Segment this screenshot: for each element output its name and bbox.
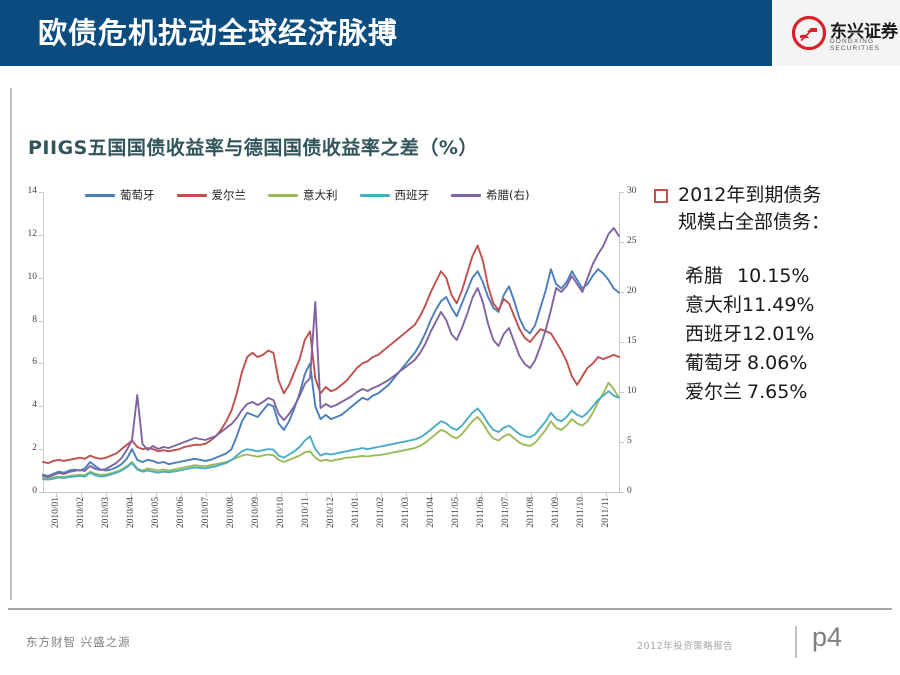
page-title: 欧债危机扰动全球经济脉搏	[38, 14, 398, 52]
debt-ratio-row: 葡萄牙8.06%	[685, 349, 892, 378]
debt-ratio-list: 希腊10.15%意大利11.49%西班牙12.01%葡萄牙8.06%爱尔兰7.6…	[652, 262, 892, 407]
y-axis-left-tick	[39, 406, 43, 407]
y-axis-left-tick-label: 14	[13, 186, 37, 196]
y-axis-left-tick	[39, 192, 43, 193]
series-line-1	[43, 246, 619, 464]
footer-page-number: p4	[812, 622, 842, 653]
debt-country-name: 意大利	[685, 291, 742, 320]
y-axis-left-tick	[39, 363, 43, 364]
x-axis-tick-label: 2011/03	[401, 497, 411, 528]
maturing-debt-panel: 2012年到期债务 规模占全部债务： 希腊10.15%意大利11.49%西班牙1…	[652, 182, 892, 407]
slide-header: 欧债危机扰动全球经济脉搏 东兴证券 DONGXING SECURITIES	[0, 0, 900, 66]
x-axis-tick-label: 2011/06	[476, 497, 486, 528]
x-axis-tick-label: 2010/10	[276, 497, 286, 528]
y-axis-right-tick-label: 5	[627, 436, 651, 446]
panel-heading-row: 2012年到期债务 规模占全部债务：	[652, 182, 892, 236]
y-axis-right-tick	[620, 242, 624, 243]
x-axis-tick-label: 2011/04	[426, 497, 436, 528]
x-axis-tick-label: 2011/10	[576, 497, 586, 528]
y-axis-left-tick-label: 12	[13, 229, 37, 239]
x-axis-tick-label: 2010/05	[151, 497, 161, 528]
x-axis-tick-label: 2011/09	[551, 497, 561, 528]
y-axis-right-tick-label: 25	[627, 236, 651, 246]
panel-heading-line2: 规模占全部债务：	[678, 209, 892, 236]
y-axis-right-tick	[620, 292, 624, 293]
bullet-square-icon	[654, 189, 668, 203]
y-axis-right-tick-label: 15	[627, 336, 651, 346]
x-axis-tick-label: 2010/07	[201, 497, 211, 528]
x-axis-tick-label: 2010/03	[101, 497, 111, 528]
y-axis-right-tick	[620, 442, 624, 443]
debt-ratio-value: 11.49%	[742, 291, 814, 320]
y-axis-right-tick-label: 0	[627, 486, 651, 496]
debt-ratio-value: 7.65%	[747, 378, 807, 407]
debt-ratio-row: 西班牙12.01%	[685, 320, 892, 349]
y-axis-right-tick-label: 20	[627, 286, 651, 296]
y-axis-right-tick	[620, 342, 624, 343]
y-axis-right-tick	[620, 392, 624, 393]
x-axis-tick-label: 2011/02	[376, 497, 386, 528]
debt-country-name: 葡萄牙	[685, 349, 742, 378]
y-axis-right-tick	[620, 492, 624, 493]
debt-country-name: 希腊	[685, 262, 723, 291]
x-axis-tick-label: 2010/12	[326, 497, 336, 528]
chart-title: PIIGS五国国债收益率与德国国债收益率之差（%）	[28, 133, 478, 160]
y-axis-right-tick	[620, 192, 624, 193]
y-axis-left-tick	[39, 278, 43, 279]
y-axis-left-tick	[39, 449, 43, 450]
x-axis-tick-label: 2011/08	[526, 497, 536, 528]
y-axis-left-tick	[39, 235, 43, 236]
x-axis-tick-label: 2011/11	[601, 497, 611, 527]
dongxing-logo-icon	[792, 16, 826, 50]
y-axis-right-tick-label: 30	[627, 186, 651, 196]
debt-ratio-value: 10.15%	[737, 262, 809, 291]
y-axis-left-tick-label: 4	[13, 400, 37, 410]
series-line-3	[43, 391, 619, 479]
x-axis-tick-label: 2010/04	[126, 497, 136, 528]
y-axis-left-tick-label: 2	[13, 443, 37, 453]
logo-english-name: DONGXING SECURITIES	[830, 38, 900, 52]
debt-country-name: 西班牙	[685, 320, 742, 349]
footer-divider	[8, 608, 892, 610]
x-axis-tick-label: 2010/02	[76, 497, 86, 528]
y-axis-left-tick	[39, 492, 43, 493]
debt-ratio-value: 12.01%	[742, 320, 814, 349]
y-axis-left-tick-label: 8	[13, 315, 37, 325]
x-axis-tick-label: 2010/01	[51, 497, 61, 528]
brand-logo: 东兴证券 DONGXING SECURITIES	[772, 0, 900, 66]
panel-heading-line1: 2012年到期债务	[678, 182, 892, 209]
x-axis-tick-label: 2010/09	[251, 497, 261, 528]
y-axis-right-tick-label: 10	[627, 386, 651, 396]
series-line-4	[43, 228, 619, 477]
y-axis-left-tick-label: 10	[13, 272, 37, 282]
footer-slogan: 东方财智 兴盛之源	[26, 634, 131, 650]
x-axis-tick-label: 2010/08	[226, 497, 236, 528]
debt-ratio-value: 8.06%	[747, 349, 807, 378]
y-axis-left-tick-label: 6	[13, 357, 37, 367]
x-axis-tick-label: 2011/01	[351, 497, 361, 528]
x-axis-tick-label: 2010/11	[301, 497, 311, 528]
debt-ratio-row: 意大利11.49%	[685, 291, 892, 320]
y-axis-left-tick	[39, 321, 43, 322]
debt-ratio-row: 爱尔兰7.65%	[685, 378, 892, 407]
debt-country-name: 爱尔兰	[685, 378, 742, 407]
x-axis-tick-label: 2011/05	[451, 497, 461, 528]
y-axis-left-tick-label: 0	[13, 486, 37, 496]
x-axis-tick-label: 2010/06	[176, 497, 186, 528]
debt-ratio-row: 希腊10.15%	[685, 262, 892, 291]
footer-separator	[795, 626, 797, 658]
footer-report-name: 2012年投资策略报告	[637, 638, 733, 652]
x-axis-tick-label: 2011/07	[501, 497, 511, 528]
